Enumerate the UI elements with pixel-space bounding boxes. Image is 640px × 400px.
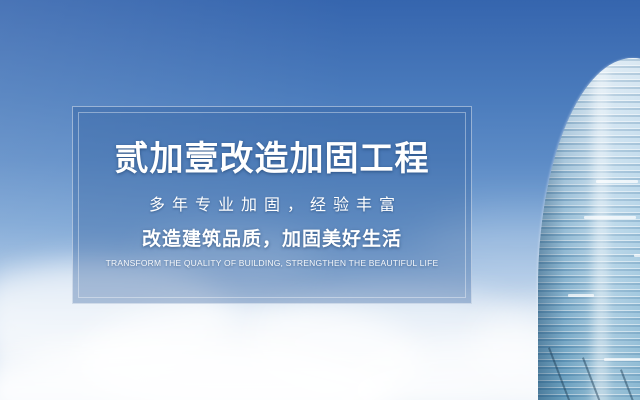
tower-window-reflection <box>634 254 640 257</box>
english-tagline-text: TRANSFORM THE QUALITY OF BUILDING, STREN… <box>106 259 439 268</box>
tagline-text: 改造建筑品质，加固美好生活 <box>142 230 402 249</box>
tower-window-reflection <box>596 180 638 183</box>
headline-title: 贰加壹改造加固工程 <box>115 142 430 176</box>
tower-window-reflection <box>604 358 640 361</box>
skyscraper-photo <box>520 0 640 400</box>
hero-banner: 贰加壹改造加固工程 多年专业加固，经验丰富 改造建筑品质，加固美好生活 TRAN… <box>0 0 640 400</box>
tower-window-reflection <box>584 216 636 219</box>
tower-window-reflection <box>568 294 594 297</box>
tower-highlight-glint <box>587 58 613 400</box>
subheadline-text: 多年专业加固，经验丰富 <box>142 198 402 214</box>
hero-text-panel: 贰加壹改造加固工程 多年专业加固，经验丰富 改造建筑品质，加固美好生活 TRAN… <box>72 106 472 304</box>
glass-tower <box>538 58 640 400</box>
panel-content: 贰加壹改造加固工程 多年专业加固，经验丰富 改造建筑品质，加固美好生活 TRAN… <box>73 107 471 303</box>
